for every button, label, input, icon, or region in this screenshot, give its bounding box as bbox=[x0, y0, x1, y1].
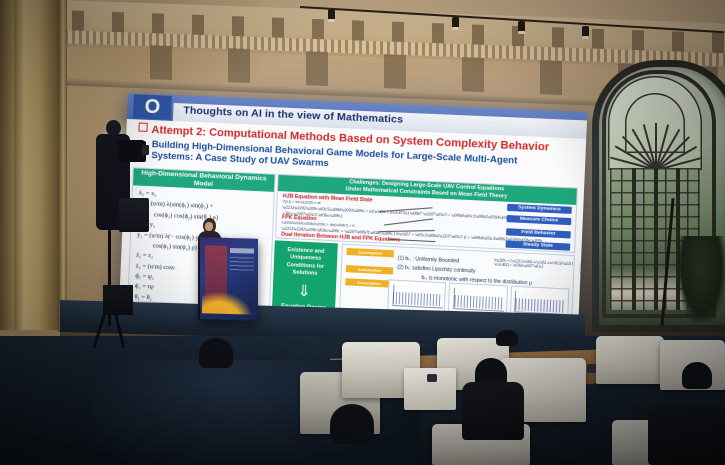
existence-title: Existence and Uniqueness Conditions for … bbox=[273, 240, 337, 279]
tag-system-dynamics[interactable]: System Dynamics bbox=[507, 204, 572, 215]
audience-member-head bbox=[682, 362, 712, 389]
coffee-cup bbox=[427, 374, 437, 382]
lectern bbox=[200, 237, 258, 321]
audience-chair bbox=[596, 336, 664, 384]
assumption-chip: Assumption bbox=[347, 248, 394, 257]
connector-arrow bbox=[384, 218, 433, 225]
existence-uniqueness-box: Existence and Uniqueness Conditions for … bbox=[272, 240, 338, 312]
plot-trace bbox=[393, 291, 443, 306]
condition-text: (1) bₜ, : Uniformly Bounded bbox=[397, 255, 459, 264]
stage-monitor bbox=[119, 198, 149, 232]
bullet-square-icon bbox=[138, 122, 147, 131]
track-light-icon bbox=[582, 26, 589, 37]
assumption-chip: Assumption bbox=[346, 265, 393, 274]
tag-steady-state[interactable]: Steady State bbox=[505, 240, 570, 251]
audience-member-torso bbox=[462, 382, 524, 440]
conference-scene: O Thoughts on AI in the view of Mathemat… bbox=[0, 0, 725, 465]
audience-member-torso bbox=[648, 406, 725, 465]
assumption-formula: b\u209c = (\u2211\u1d62 w\u1d62 x\u1d62)… bbox=[494, 258, 573, 270]
potted-plant bbox=[678, 236, 725, 322]
presenter-face bbox=[205, 222, 213, 231]
lectern-logo bbox=[230, 248, 254, 254]
assumption-chip: Assumption bbox=[345, 278, 392, 287]
lectern-swoosh bbox=[202, 287, 258, 314]
track-light-icon bbox=[328, 9, 335, 20]
pilaster-edge bbox=[58, 0, 67, 332]
track-light-icon bbox=[452, 17, 459, 28]
down-arrow-icon: ⇓ bbox=[272, 283, 336, 302]
loudspeaker bbox=[103, 285, 133, 315]
logo-letter: O bbox=[144, 97, 160, 118]
wall-pilaster bbox=[14, 0, 60, 330]
video-camera-icon bbox=[118, 140, 144, 161]
presentation-slide: O Thoughts on AI in the view of Mathemat… bbox=[119, 93, 587, 330]
condition-text: (2) bₜ, satisfies Lipschitz continuity bbox=[397, 265, 475, 275]
projection-screen: O Thoughts on AI in the view of Mathemat… bbox=[119, 93, 587, 330]
audience-member-head bbox=[199, 338, 233, 368]
tag-measure-choice[interactable]: Measure Choice bbox=[507, 215, 572, 226]
plot-trace bbox=[454, 294, 504, 309]
audience-member-head bbox=[330, 404, 374, 444]
window-mullion bbox=[654, 168, 658, 310]
track-light-icon bbox=[518, 21, 525, 32]
slide-logo: O bbox=[133, 94, 172, 120]
fanlight-arc-inner bbox=[625, 93, 685, 153]
right-panel: Challenges: Designing Large-Scale UAV Co… bbox=[275, 174, 578, 253]
window-mullion bbox=[632, 168, 636, 310]
plot-trace bbox=[515, 298, 565, 313]
audience-member-head bbox=[496, 330, 518, 346]
coffee-cup bbox=[587, 364, 596, 373]
lectern-text-block bbox=[230, 257, 254, 274]
